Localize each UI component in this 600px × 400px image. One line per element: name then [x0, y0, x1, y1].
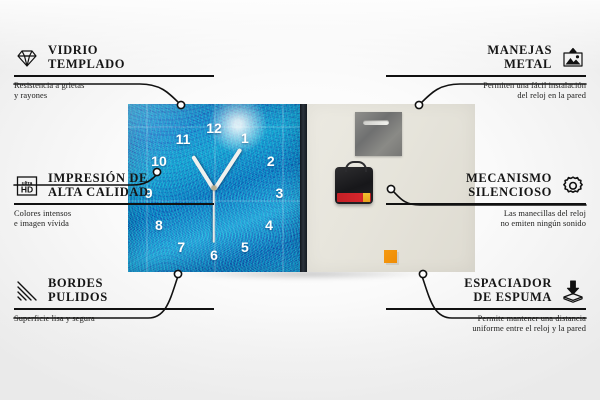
glass-edge: [300, 104, 307, 272]
diamond-icon: [14, 46, 40, 70]
clock-numeral-10: 10: [151, 154, 167, 168]
movement-label: [337, 193, 371, 202]
beveled-edge-icon: [14, 279, 40, 303]
callout-espaciador-espuma: ESPACIADOR DE ESPUMA Permite mantener un…: [386, 277, 586, 335]
callout-desc-line1: Permiten una fácil instalación: [386, 81, 586, 92]
callout-header: MECANISMO SILENCIOSO: [386, 172, 586, 199]
movement-handle: [345, 161, 367, 172]
hanger-slot: [363, 120, 389, 125]
callout-rule: [386, 308, 586, 310]
arrow-down-onto-pad-icon: [560, 279, 586, 303]
clock-numeral-4: 4: [265, 218, 273, 232]
callout-title: BORDES PULIDOS: [48, 277, 108, 304]
callout-desc-line1: Resistencia a grietas: [14, 81, 214, 92]
callout-rule: [386, 75, 586, 77]
callout-rule: [14, 75, 214, 77]
callout-title: IMPRESIÓN DE ALTA CALIDAD: [48, 172, 149, 199]
callout-manejas-metal: MANEJAS METAL Permiten una fácil instala…: [386, 44, 586, 102]
callout-header: MANEJAS METAL: [386, 44, 586, 71]
callout-header: ESPACIADOR DE ESPUMA: [386, 277, 586, 304]
callout-desc-line2: no emiten ningún sonido: [386, 219, 586, 230]
callout-desc-line2: y rayones: [14, 91, 214, 102]
quartz-movement-box: [335, 167, 373, 204]
callout-desc-line1: Permite mantener una distancia: [386, 314, 586, 325]
clock-numeral-6: 6: [210, 248, 218, 262]
callout-header: BORDES PULIDOS: [14, 277, 214, 304]
foam-spacer: [384, 250, 397, 263]
ultra-hd-icon: ultra HD: [14, 174, 40, 198]
clock-numeral-12: 12: [206, 121, 222, 135]
infographic-canvas: 12 1 2 3 4 5 6 7 8 9 10 11: [0, 0, 600, 400]
callout-header: VIDRIO TEMPLADO: [14, 44, 214, 71]
callout-desc-line2: del reloj en la pared: [386, 91, 586, 102]
gear-icon: [560, 174, 586, 198]
clock-numeral-2: 2: [267, 154, 275, 168]
callout-rule: [14, 203, 214, 205]
callout-desc-line1: Colores intensos: [14, 209, 214, 220]
callout-rule: [386, 203, 586, 205]
callout-vidrio-templado: VIDRIO TEMPLADO Resistencia a grietas y …: [14, 44, 214, 102]
clock-numeral-5: 5: [241, 240, 249, 254]
callout-rule: [14, 308, 214, 310]
clock-numeral-11: 11: [176, 132, 191, 146]
metal-hanger-plate: [355, 112, 402, 156]
clock-numeral-7: 7: [177, 240, 185, 254]
callout-title: VIDRIO TEMPLADO: [48, 44, 125, 71]
svg-text:HD: HD: [21, 184, 33, 194]
clock-numeral-3: 3: [275, 186, 283, 200]
callout-impresion-alta-calidad: ultra HD IMPRESIÓN DE ALTA CALIDAD Color…: [14, 172, 214, 230]
callout-desc-line1: Superficie lisa y segura: [14, 314, 214, 325]
callout-header: ultra HD IMPRESIÓN DE ALTA CALIDAD: [14, 172, 214, 199]
callout-desc-line2: uniforme entre el reloj y la pared: [386, 324, 586, 335]
framed-picture-hanging-icon: [560, 46, 586, 70]
callout-title: MECANISMO SILENCIOSO: [466, 172, 552, 199]
clock-numeral-1: 1: [241, 131, 249, 145]
callout-mecanismo-silencioso: MECANISMO SILENCIOSO Las manecillas del …: [386, 172, 586, 230]
callout-desc-line2: e imagen vívida: [14, 219, 214, 230]
callout-title: MANEJAS METAL: [487, 44, 552, 71]
callout-title: ESPACIADOR DE ESPUMA: [464, 277, 552, 304]
callout-desc-line1: Las manecillas del reloj: [386, 209, 586, 220]
callout-bordes-pulidos: BORDES PULIDOS Superficie lisa y segura: [14, 277, 214, 324]
